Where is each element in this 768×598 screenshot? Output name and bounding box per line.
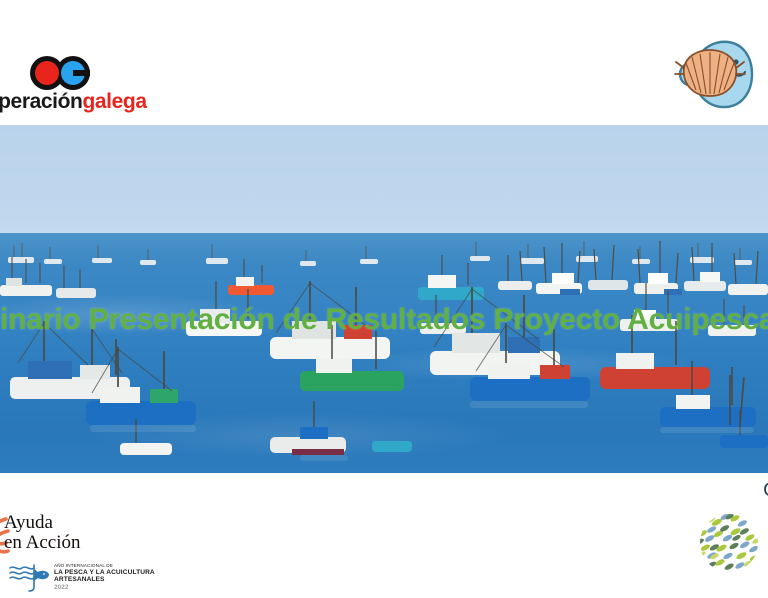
- fishing-harbour-photo: inario Presentación de Resultados Proyec…: [0, 125, 768, 473]
- ayuda-line-2: en Acción: [4, 533, 81, 553]
- iyafa-line-3: ARTESANALES: [54, 576, 158, 583]
- ayuda-en-accion-logo: Ayuda en Acción: [0, 513, 126, 559]
- presentation-slide: cooperacióngalega: [0, 0, 768, 594]
- iyafa-fao-logo: AÑO INTERNACIONAL DE LA PESCA Y LA ACUIC…: [8, 562, 158, 596]
- slide-header: cooperacióngalega: [0, 0, 768, 125]
- globe-sphere-logo: [698, 512, 760, 574]
- coop-word-part1: cooperación: [0, 90, 82, 113]
- cooperacion-galega-mark-icon: [30, 56, 92, 90]
- coop-word-part2: galega: [82, 90, 146, 113]
- photo-boat-fleet: [0, 125, 768, 473]
- iyafa-line-2: LA PESCA Y LA ACUICULTURA: [54, 569, 158, 576]
- iyafa-fish-net-icon: [8, 563, 50, 593]
- fish-scallop-logo: [670, 34, 756, 114]
- page-title: inario Presentación de Resultados Proyec…: [0, 303, 768, 337]
- ayuda-en-accion-wordmark: Ayuda en Acción: [4, 513, 81, 553]
- iyafa-line-4: 2022: [54, 584, 158, 591]
- ayuda-line-1: Ayuda: [4, 513, 81, 533]
- organiza-label: O: [763, 480, 768, 502]
- cooperacion-galega-wordmark: cooperacióngalega: [0, 90, 152, 114]
- cooperacion-galega-logo: cooperacióngalega: [0, 56, 152, 118]
- iyafa-wordmark: AÑO INTERNACIONAL DE LA PESCA Y LA ACUIC…: [54, 563, 158, 591]
- slide-footer: Ayuda en Acción: [0, 473, 768, 594]
